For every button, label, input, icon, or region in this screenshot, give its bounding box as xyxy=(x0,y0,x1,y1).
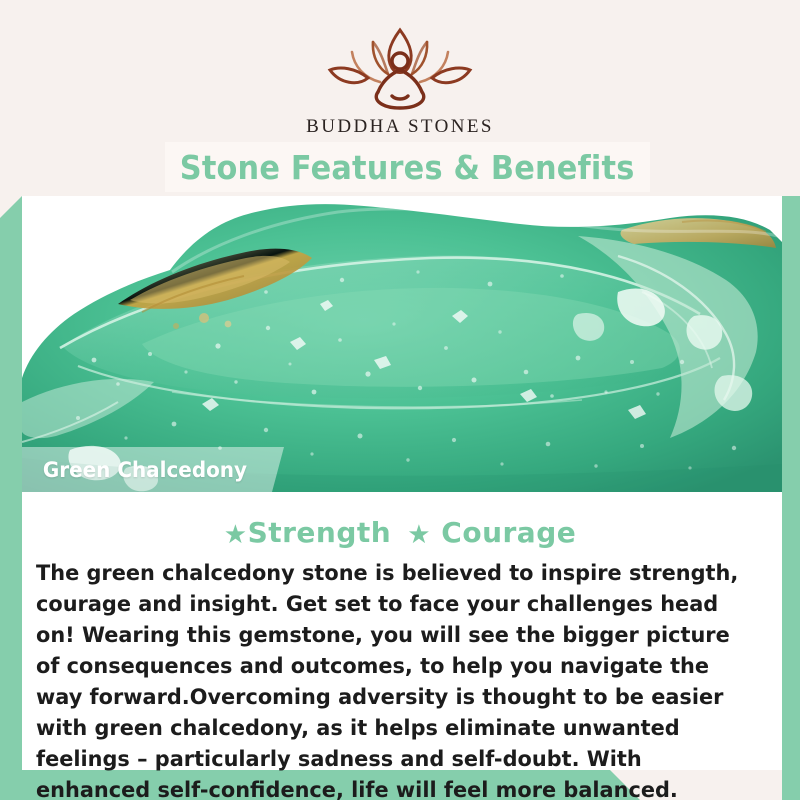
benefits-heading: ★Strength★ Courage xyxy=(0,516,800,550)
benefit-label-strength: Strength xyxy=(248,516,392,549)
brand-logo: BUDDHA STONES xyxy=(270,22,530,138)
star-icon-courage: ★ xyxy=(407,520,431,550)
star-icon-strength: ★ xyxy=(224,520,248,550)
poster-root: BUDDHA STONES Stone Features & Benefits xyxy=(0,0,800,800)
title-banner: Stone Features & Benefits xyxy=(165,142,650,192)
stone-name-band: Green Chalcedony xyxy=(22,447,284,492)
lotus-meditation-figure-icon xyxy=(310,22,490,110)
description-text: The green chalcedony stone is believed t… xyxy=(36,558,754,800)
brand-name: BUDDHA STONES xyxy=(270,116,530,138)
page-title: Stone Features & Benefits xyxy=(180,148,635,187)
stone-name: Green Chalcedony xyxy=(22,458,247,482)
decor-left-bar xyxy=(0,196,22,800)
benefit-label-courage: Courage xyxy=(441,516,576,549)
